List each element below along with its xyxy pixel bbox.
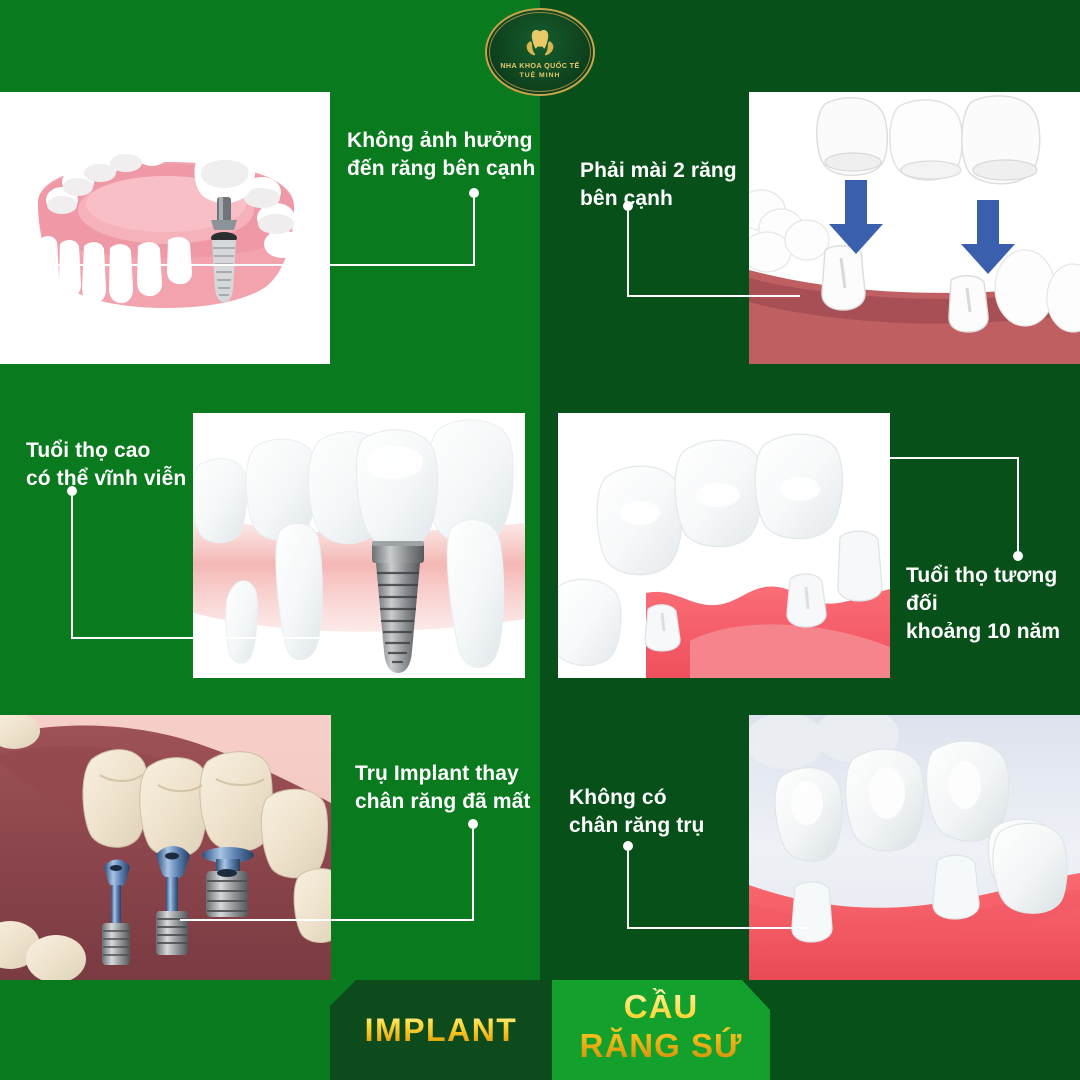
callout-implant-long-lifespan: Tuổi thọ cao có thể vĩnh viễn [26, 437, 186, 493]
callout-implant-no-effect-neighbors: Không ảnh hưởng đến răng bên cạnh [347, 127, 535, 183]
callout-bridge-must-grind-two-teeth: Phải mài 2 răng bên cạnh [580, 157, 737, 213]
callout-bridge-no-root: Không có chân răng trụ [569, 784, 704, 840]
panel-bridge-noroot-image [749, 715, 1080, 980]
banner-bridge-tab[interactable]: CẦU RĂNG SỨ [552, 980, 770, 1080]
panel-implant-multi-image [0, 715, 331, 980]
logo-ring [489, 12, 591, 92]
brand-logo: NHA KHOA QUỐC TẾ TUỆ MINH [485, 8, 595, 96]
panel-implant-single-image [193, 413, 525, 678]
callout-implant-replaces-root: Trụ Implant thay chân răng đã mất [355, 760, 530, 816]
banner-implant-label: IMPLANT [330, 1012, 552, 1049]
banner-bridge-label: CẦU RĂNG SỨ [552, 988, 770, 1066]
banner-implant-tab[interactable]: IMPLANT [330, 980, 552, 1080]
callout-bridge-lifespan-ten-years: Tuổi thọ tương đối khoảng 10 năm [906, 562, 1080, 646]
panel-bridge-arrows-image [749, 92, 1080, 364]
bottom-banner: IMPLANT CẦU RĂNG SỨ [0, 980, 1080, 1080]
panel-implant-jaw-image [0, 92, 330, 364]
panel-bridge-three-unit-image [558, 413, 890, 678]
